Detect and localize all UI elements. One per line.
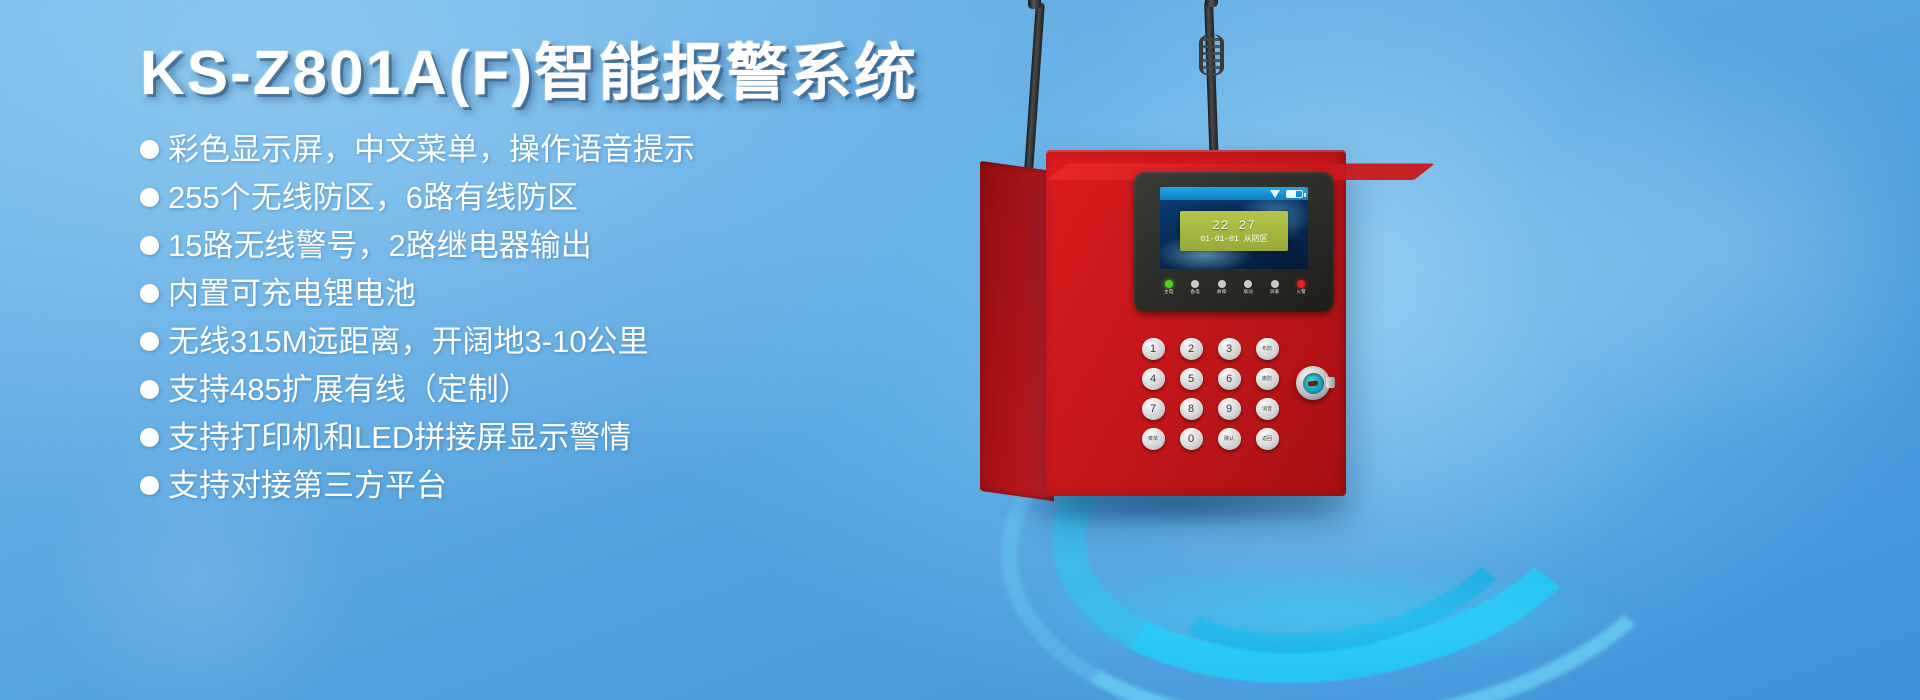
- led-dot-icon: [1191, 280, 1199, 288]
- bullet-dot-icon: [140, 428, 159, 447]
- feature-list: 彩色显示屏，中文菜单，操作语音提示 255个无线防区，6路有线防区 15路无线警…: [140, 134, 960, 501]
- feature-item: 255个无线防区，6路有线防区: [140, 182, 960, 213]
- feature-item: 支持485扩展有线（定制）: [140, 374, 960, 405]
- led-dot-icon: [1271, 280, 1279, 288]
- led-label: 故障: [1217, 290, 1226, 295]
- key-confirm[interactable]: 确认: [1218, 428, 1241, 450]
- bullet-dot-icon: [140, 284, 159, 303]
- led-indicator: 火警: [1297, 280, 1306, 295]
- led-label: 联动: [1244, 290, 1253, 295]
- feature-item: 无线315M远距离，开阔地3-10公里: [140, 326, 960, 357]
- feature-item: 15路无线警号，2路继电器输出: [140, 230, 960, 261]
- key-lock[interactable]: [1296, 366, 1330, 400]
- feature-text: 支持打印机和LED拼接屏显示警情: [168, 422, 631, 453]
- bullet-dot-icon: [140, 140, 159, 159]
- led-label: 屏蔽: [1270, 290, 1279, 295]
- lcd-status-bar: [1160, 187, 1308, 200]
- led-indicator: 故障: [1217, 280, 1226, 295]
- key-arm[interactable]: 布防: [1256, 338, 1279, 360]
- led-indicator-row: 主电 备电 故障 联动: [1164, 280, 1306, 295]
- feature-item: 彩色显示屏，中文菜单，操作语音提示: [140, 134, 960, 165]
- led-dot-icon: [1244, 280, 1252, 288]
- key-6[interactable]: 6: [1218, 368, 1241, 390]
- bullet-dot-icon: [140, 476, 159, 495]
- key-0[interactable]: 0: [1180, 428, 1203, 450]
- feature-text: 内置可充电锂电池: [168, 278, 416, 309]
- signal-icon: [1270, 190, 1280, 198]
- battery-icon: [1286, 190, 1303, 198]
- key-disarm[interactable]: 撤防: [1256, 368, 1279, 390]
- lcd-time: 22 27: [1212, 219, 1256, 232]
- lcd-status-text: 从防区: [1244, 235, 1268, 243]
- product-title: KS-Z801A(F)智能报警系统: [140, 40, 960, 108]
- led-dot-icon: [1297, 280, 1305, 288]
- key-3[interactable]: 3: [1218, 338, 1241, 360]
- feature-text: 15路无线警号，2路继电器输出: [168, 230, 592, 261]
- lcd-screen: 22 27 01-01-01 从防区: [1160, 187, 1308, 269]
- key-4[interactable]: 4: [1142, 368, 1165, 390]
- feature-text: 支持对接第三方平台: [168, 470, 447, 501]
- antenna-tip: [1028, 0, 1041, 9]
- antenna-rod: [1024, 2, 1045, 172]
- feature-item: 内置可充电锂电池: [140, 278, 960, 309]
- key-5[interactable]: 5: [1180, 368, 1203, 390]
- antenna-tip: [1205, 0, 1218, 7]
- lcd-date: 01-01-01: [1200, 236, 1238, 244]
- lcd-sub-line: 01-01-01 从防区: [1200, 235, 1267, 244]
- feature-text: 255个无线防区，6路有线防区: [168, 182, 578, 213]
- feature-text: 彩色显示屏，中文菜单，操作语音提示: [168, 134, 695, 165]
- product-banner: KS-Z801A(F)智能报警系统 彩色显示屏，中文菜单，操作语音提示 255个…: [0, 0, 1920, 700]
- background-glow-secondary: [1530, 30, 1920, 460]
- key-lock-slot-icon: [1308, 380, 1318, 386]
- lcd-info-box: 22 27 01-01-01 从防区: [1180, 211, 1288, 251]
- bullet-dot-icon: [140, 188, 159, 207]
- led-dot-icon: [1165, 280, 1173, 288]
- key-mute[interactable]: 消音: [1256, 398, 1279, 420]
- device-enclosure: 22 27 01-01-01 从防区 主电: [980, 148, 1380, 508]
- feature-item: 支持打印机和LED拼接屏显示警情: [140, 422, 960, 453]
- key-lock-core: [1303, 373, 1324, 394]
- key-back[interactable]: 返回: [1256, 428, 1279, 450]
- led-label: 主电: [1164, 290, 1173, 295]
- bullet-dot-icon: [140, 236, 159, 255]
- alarm-control-panel: 22 27 01-01-01 从防区 主电: [960, 0, 1480, 700]
- key-1[interactable]: 1: [1142, 338, 1165, 360]
- led-dot-icon: [1218, 280, 1226, 288]
- bullet-dot-icon: [140, 332, 159, 351]
- key-lock-tab: [1326, 377, 1335, 388]
- led-label: 火警: [1297, 290, 1306, 295]
- led-indicator: 联动: [1244, 280, 1253, 295]
- key-9[interactable]: 9: [1218, 398, 1241, 420]
- enclosure-side: [980, 161, 1054, 501]
- bullet-dot-icon: [140, 380, 159, 399]
- feature-text: 支持485扩展有线（定制）: [168, 374, 530, 405]
- enclosure-front-face: 22 27 01-01-01 从防区 主电: [1046, 150, 1346, 496]
- banner-text-block: KS-Z801A(F)智能报警系统 彩色显示屏，中文菜单，操作语音提示 255个…: [140, 40, 960, 518]
- keypad[interactable]: 1 2 3 布防 4 5 6 撤防 7 8 9 消音 菜单 0 确认 返回: [1138, 338, 1282, 454]
- led-label: 备电: [1191, 290, 1200, 295]
- led-indicator: 主电: [1164, 280, 1173, 295]
- key-7[interactable]: 7: [1142, 398, 1165, 420]
- display-bezel: 22 27 01-01-01 从防区 主电: [1134, 172, 1334, 312]
- feature-item: 支持对接第三方平台: [140, 470, 960, 501]
- key-8[interactable]: 8: [1180, 398, 1203, 420]
- key-2[interactable]: 2: [1180, 338, 1203, 360]
- key-menu[interactable]: 菜单: [1142, 428, 1165, 450]
- feature-text: 无线315M远距离，开阔地3-10公里: [168, 326, 649, 357]
- led-indicator: 备电: [1191, 280, 1200, 295]
- antenna-rod: [1204, 0, 1219, 168]
- antenna-coil: [1199, 34, 1224, 76]
- led-indicator: 屏蔽: [1270, 280, 1279, 295]
